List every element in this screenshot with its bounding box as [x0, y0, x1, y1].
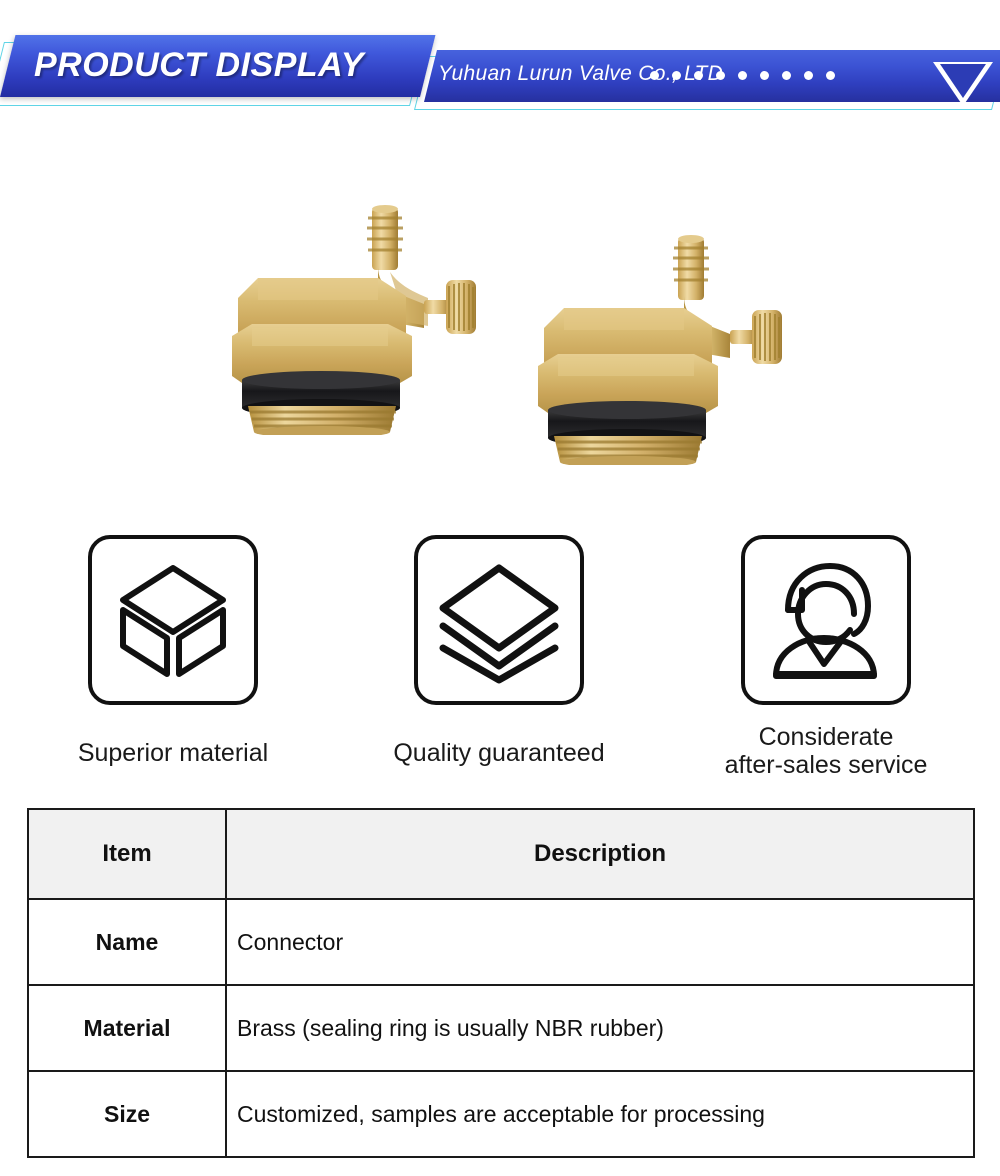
feature-list: Superior material Quality guaranteed Con…	[0, 530, 1000, 790]
row-key: Size	[28, 1071, 226, 1157]
feature-quality-guaranteed: Quality guaranteed	[414, 535, 584, 705]
triangle-down-inner-icon	[940, 64, 986, 98]
layers-stack-icon	[414, 535, 584, 705]
product-image-area	[0, 160, 1000, 510]
table-row: Name Connector	[28, 899, 974, 985]
feature-label: Quality guaranteed	[368, 739, 630, 767]
row-key: Material	[28, 985, 226, 1071]
connector-right-illustration	[512, 230, 812, 465]
specification-table: Item Description Name Connector Material…	[27, 808, 975, 1158]
customer-service-icon	[741, 535, 911, 705]
column-header-item: Item	[28, 809, 226, 899]
dot-separator-icon	[650, 71, 835, 80]
page-title: PRODUCT DISPLAY	[34, 46, 364, 85]
product-photo-left	[228, 200, 528, 435]
table-row: Material Brass (sealing ring is usually …	[28, 985, 974, 1071]
connector-left-illustration	[228, 200, 528, 435]
table-header-row: Item Description	[28, 809, 974, 899]
feature-label: Superior material	[48, 739, 298, 767]
row-value: Customized, samples are acceptable for p…	[226, 1071, 974, 1157]
row-value: Brass (sealing ring is usually NBR rubbe…	[226, 985, 974, 1071]
row-key: Name	[28, 899, 226, 985]
feature-superior-material: Superior material	[88, 535, 258, 705]
feature-label: Considerate after-sales service	[665, 723, 987, 779]
table-row: Size Customized, samples are acceptable …	[28, 1071, 974, 1157]
page-header: Yuhuan Lurun Valve Co., LTD PRODUCT DISP…	[0, 0, 1000, 150]
column-header-description: Description	[226, 809, 974, 899]
cube-box-icon	[88, 535, 258, 705]
feature-after-sales-service: Considerate after-sales service	[741, 535, 911, 705]
product-photo-right	[512, 230, 812, 465]
row-value: Connector	[226, 899, 974, 985]
